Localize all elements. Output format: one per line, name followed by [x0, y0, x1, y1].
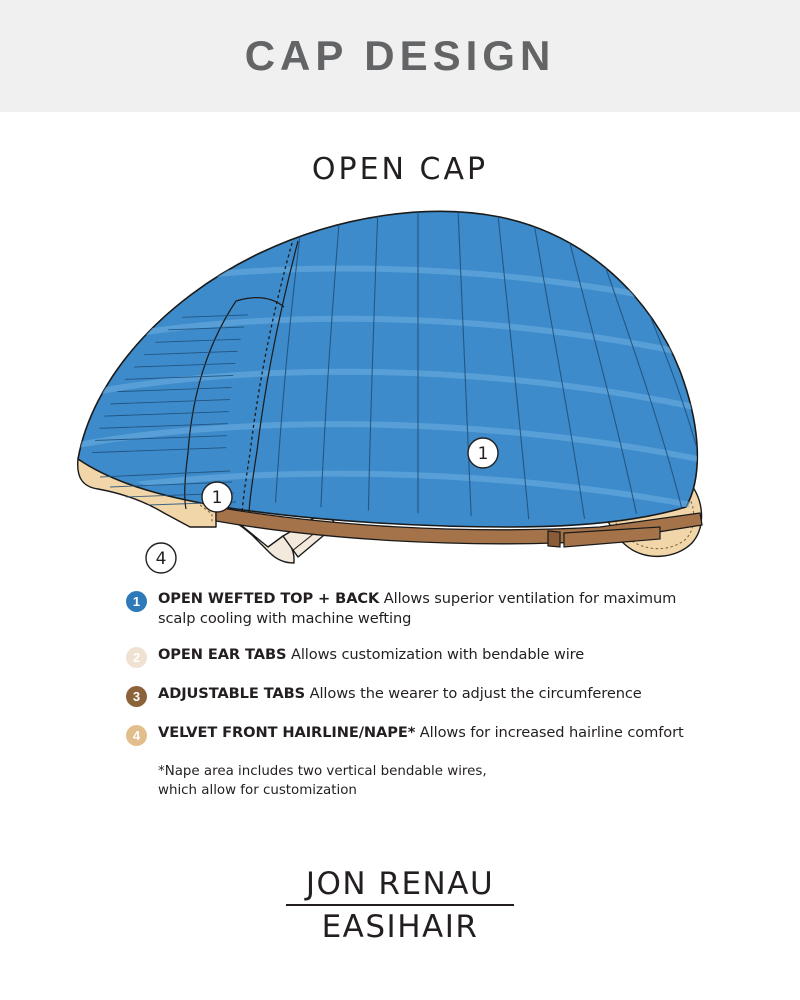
legend-badge-3: 3 [126, 686, 147, 707]
legend-badge-2: 2 [126, 647, 147, 668]
cap-body-shape [40, 207, 750, 535]
legend-badge-1: 1 [126, 591, 147, 612]
legend-text-1: OPEN WEFTED TOP + BACK Allows superior v… [158, 589, 690, 629]
legend-body-3: Allows the wearer to adjust the circumfe… [305, 685, 642, 702]
page-header: CAP DESIGN [0, 0, 800, 112]
open-cap-illustration: 1 1 4 2 3 4 [40, 191, 760, 581]
legend-text-4: VELVET FRONT HAIRLINE/NAPE* Allows for i… [158, 723, 684, 743]
brand-logo-primary: JON RENAU [0, 866, 800, 902]
page-title: CAP DESIGN [245, 32, 556, 80]
section-title: OPEN CAP [312, 152, 488, 187]
brand-logo: JON RENAU EASIHAIR [0, 866, 800, 945]
brand-logo-secondary: EASIHAIR [0, 909, 800, 945]
callout-1-front: 1 [202, 482, 232, 512]
legend-item-2: 2 OPEN EAR TABS Allows customization wit… [0, 645, 800, 668]
svg-text:1: 1 [212, 488, 223, 508]
legend-lead-3: ADJUSTABLE TABS [158, 685, 305, 702]
cap-diagram: 1 1 4 2 3 4 [0, 191, 800, 581]
section-title-wrap: OPEN CAP [0, 152, 800, 187]
brand-logo-divider [286, 904, 514, 906]
legend-body-4: Allows for increased hairline comfort [415, 724, 683, 741]
legend-item-4: 4 VELVET FRONT HAIRLINE/NAPE* Allows for… [0, 723, 800, 746]
strap-buckle [548, 531, 560, 547]
legend-item-3: 3 ADJUSTABLE TABS Allows the wearer to a… [0, 684, 800, 707]
legend-lead-2: OPEN EAR TABS [158, 646, 286, 663]
legend-list: 1 OPEN WEFTED TOP + BACK Allows superior… [0, 589, 800, 800]
callout-1-top: 1 [468, 438, 498, 468]
legend-body-2: Allows customization with bendable wire [286, 646, 584, 663]
svg-text:1: 1 [478, 444, 489, 464]
callout-4-front: 4 [146, 543, 176, 573]
svg-text:4: 4 [156, 549, 167, 569]
legend-badge-4: 4 [126, 725, 147, 746]
legend-lead-4: VELVET FRONT HAIRLINE/NAPE* [158, 724, 415, 741]
legend-text-3: ADJUSTABLE TABS Allows the wearer to adj… [158, 684, 642, 704]
legend-text-2: OPEN EAR TABS Allows customization with … [158, 645, 584, 665]
legend-item-1: 1 OPEN WEFTED TOP + BACK Allows superior… [0, 589, 800, 629]
legend-footnote: *Nape area includes two vertical bendabl… [0, 762, 800, 800]
legend-lead-1: OPEN WEFTED TOP + BACK [158, 590, 379, 607]
